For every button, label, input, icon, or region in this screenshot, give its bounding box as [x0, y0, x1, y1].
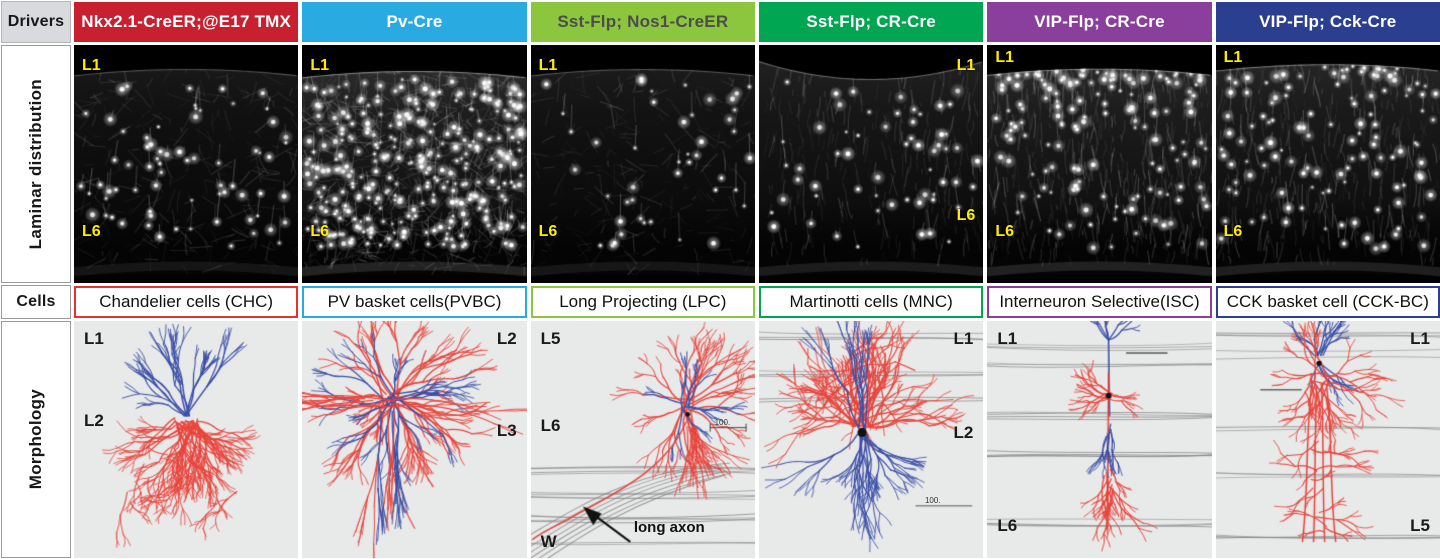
row-label-laminar-text: Laminar distribution: [26, 79, 46, 249]
morphology-panel-3: L5L6Wlong axon100.: [531, 321, 755, 558]
laminar-micrograph: [759, 45, 983, 283]
morphology-label-white-matter: W: [541, 532, 557, 552]
laminar-label-top: L1: [957, 57, 976, 75]
morphology-label-bottom: L5: [1410, 516, 1430, 536]
cell-type-chip-6: CCK basket cell (CCK-BC): [1216, 286, 1440, 318]
driver-chip-label-line2: @E17 TMX: [202, 13, 291, 31]
laminar-label-top: L1: [310, 57, 329, 75]
morphology-label-top: L2: [497, 329, 517, 349]
cell-type-chip-1: Chandelier cells (CHC): [74, 286, 298, 318]
laminar-micrograph: [1216, 45, 1440, 283]
row-label-drivers-text: Drivers: [8, 13, 65, 31]
morphology-label-bottom: L6: [997, 516, 1017, 536]
cell-type-label: Interneuron Selective(ISC): [999, 292, 1199, 312]
laminar-label-top: L1: [1224, 49, 1243, 67]
laminar-label-bottom: L6: [995, 223, 1014, 241]
row-label-laminar: Laminar distribution: [1, 45, 71, 283]
laminar-micrograph: [987, 45, 1211, 283]
cell-type-label: Chandelier cells (CHC): [99, 292, 273, 312]
morphology-tracing: [302, 321, 526, 558]
laminar-micrograph: [74, 45, 298, 283]
driver-chips: Nkx2.1-CreER;@E17 TMXPv-CreSst-Flp; Nos1…: [74, 0, 1440, 44]
morphology-panel-5: L1L6: [987, 321, 1211, 558]
morphology-annotation-long-axon: long axon: [634, 519, 705, 536]
laminar-micrograph: [302, 45, 526, 283]
laminar-label-bottom: L6: [539, 223, 558, 241]
cell-type-chip-3: Long Projecting (LPC): [531, 286, 755, 318]
driver-chip-4: Sst-Flp; CR-Cre: [759, 2, 983, 42]
scale-bar-label: 100.: [925, 496, 941, 505]
cell-type-chip-4: Martinotti cells (MNC): [759, 286, 983, 318]
morphology-tracing: [759, 321, 983, 558]
morphology-tracing: [1216, 321, 1440, 558]
row-label-drivers: Drivers: [1, 1, 71, 43]
laminar-label-bottom: L6: [82, 223, 101, 241]
driver-chip-5: VIP-Flp; CR-Cre: [987, 2, 1211, 42]
cell-type-label: Long Projecting (LPC): [559, 292, 726, 312]
row-label-morphology: Morphology: [1, 321, 71, 558]
morphology-label-bottom: L6: [541, 416, 561, 436]
cell-type-chip-2: PV basket cells(PVBC): [302, 286, 526, 318]
driver-chip-2: Pv-Cre: [302, 2, 526, 42]
laminar-panel-4: L1L6: [759, 45, 983, 283]
morphology-tracing: [74, 321, 298, 558]
driver-chip-label: Sst-Flp; Nos1-CreER: [557, 13, 728, 31]
laminar-panel-5: L1L6: [987, 45, 1211, 283]
morphology-label-top: L1: [1410, 329, 1430, 349]
row-label-cells: Cells: [1, 285, 71, 319]
morphology-tracing: [987, 321, 1211, 558]
laminar-panels: L1L6L1L6L1L6L1L6L1L6L1L6: [74, 44, 1440, 284]
morphology-label-bottom: L3: [497, 421, 517, 441]
morphology-label-top: L1: [997, 329, 1017, 349]
driver-chip-label: VIP-Flp; CR-Cre: [1034, 13, 1165, 31]
drivers-row: Drivers Nkx2.1-CreER;@E17 TMXPv-CreSst-F…: [0, 0, 1440, 44]
laminar-micrograph: [531, 45, 755, 283]
morphology-label-bottom: L2: [84, 411, 104, 431]
row-label-cells-text: Cells: [16, 293, 55, 311]
morphology-panel-4: L1L2100.: [759, 321, 983, 558]
driver-chip-label: VIP-Flp; Cck-Cre: [1259, 13, 1396, 31]
cells-row: Cells Chandelier cells (CHC)PV basket ce…: [0, 284, 1440, 320]
morphology-label-top: L1: [84, 329, 104, 349]
row-label-morphology-text: Morphology: [26, 389, 46, 489]
laminar-panel-6: L1L6: [1216, 45, 1440, 283]
morphology-panel-1: L1L2: [74, 321, 298, 558]
driver-chip-label: Sst-Flp; CR-Cre: [806, 13, 936, 31]
morphology-label-bottom: L2: [953, 423, 973, 443]
figure-root: Drivers Nkx2.1-CreER;@E17 TMXPv-CreSst-F…: [0, 0, 1440, 559]
morphology-label-top: L5: [541, 329, 561, 349]
cell-type-label: Martinotti cells (MNC): [789, 292, 952, 312]
laminar-panel-1: L1L6: [74, 45, 298, 283]
cell-type-chip-5: Interneuron Selective(ISC): [987, 286, 1211, 318]
laminar-row: Laminar distribution L1L6L1L6L1L6L1L6L1L…: [0, 44, 1440, 284]
morphology-label-top: L1: [953, 329, 973, 349]
driver-chip-1: Nkx2.1-CreER;@E17 TMX: [74, 2, 298, 42]
cell-type-label: PV basket cells(PVBC): [328, 292, 502, 312]
driver-chip-label: Nkx2.1-CreER;: [81, 13, 202, 31]
driver-chip-6: VIP-Flp; Cck-Cre: [1216, 2, 1440, 42]
laminar-label-top: L1: [539, 57, 558, 75]
cell-type-chips: Chandelier cells (CHC)PV basket cells(PV…: [74, 284, 1440, 320]
laminar-label-top: L1: [82, 57, 101, 75]
morphology-panels: L1L2L2L3L5L6Wlong axon100.L1L2100.L1L6L1…: [74, 320, 1440, 559]
laminar-label-bottom: L6: [957, 207, 976, 225]
morphology-row: Morphology L1L2L2L3L5L6Wlong axon100.L1L…: [0, 320, 1440, 559]
cell-type-label: CCK basket cell (CCK-BC): [1227, 292, 1429, 312]
morphology-panel-6: L1L5: [1216, 321, 1440, 558]
driver-chip-3: Sst-Flp; Nos1-CreER: [531, 2, 755, 42]
morphology-panel-2: L2L3: [302, 321, 526, 558]
laminar-label-bottom: L6: [310, 223, 329, 241]
scale-bar-label: 100.: [715, 418, 731, 427]
driver-chip-label: Pv-Cre: [386, 13, 442, 31]
laminar-label-top: L1: [995, 49, 1014, 67]
laminar-label-bottom: L6: [1224, 223, 1243, 241]
laminar-panel-2: L1L6: [302, 45, 526, 283]
laminar-panel-3: L1L6: [531, 45, 755, 283]
